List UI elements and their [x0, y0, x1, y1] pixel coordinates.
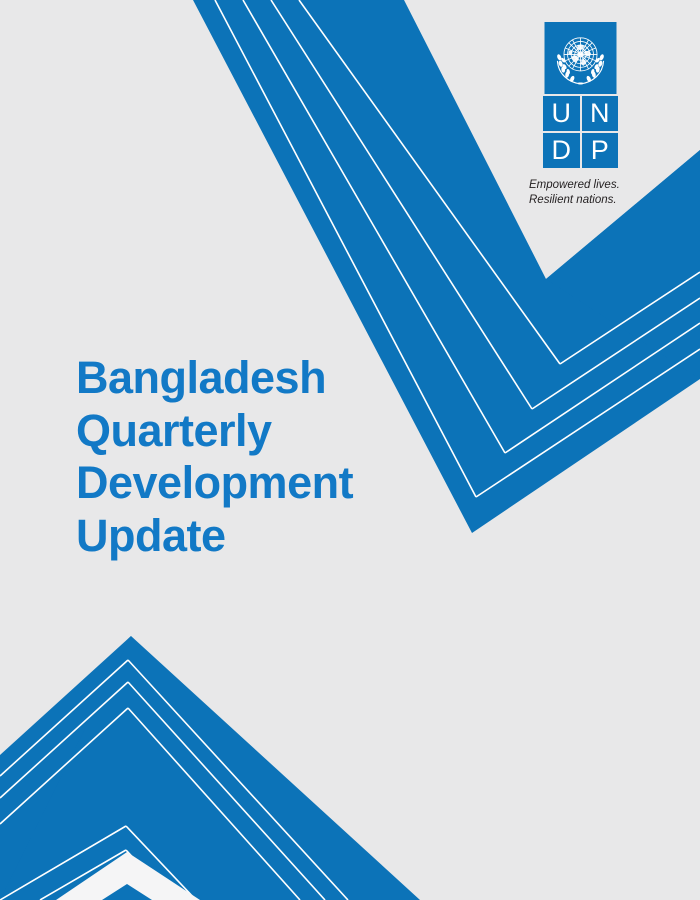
undp-letter-n: N — [582, 96, 619, 131]
un-emblem-icon — [543, 22, 618, 94]
page-title-line-4: Update — [76, 510, 436, 563]
undp-letter-d: D — [543, 133, 580, 168]
page-title-line-2: Quarterly — [76, 405, 436, 458]
page-title-line-1: Bangladesh — [76, 352, 436, 405]
undp-tagline: Empowered lives. Resilient nations. — [529, 178, 633, 209]
tagline-line-1: Empowered lives. — [529, 178, 633, 193]
page-title: Bangladesh Quarterly Development Update — [76, 352, 436, 563]
undp-letter-p: P — [582, 133, 619, 168]
report-cover: U N D P Empowered lives. Resilient natio… — [0, 0, 700, 900]
page-title-line-3: Development — [76, 457, 436, 510]
tagline-line-2: Resilient nations. — [529, 193, 633, 208]
undp-logo: U N D P Empowered lives. Resilient natio… — [529, 22, 633, 209]
undp-letter-u: U — [543, 96, 580, 131]
undp-letter-grid: U N D P — [543, 96, 618, 168]
